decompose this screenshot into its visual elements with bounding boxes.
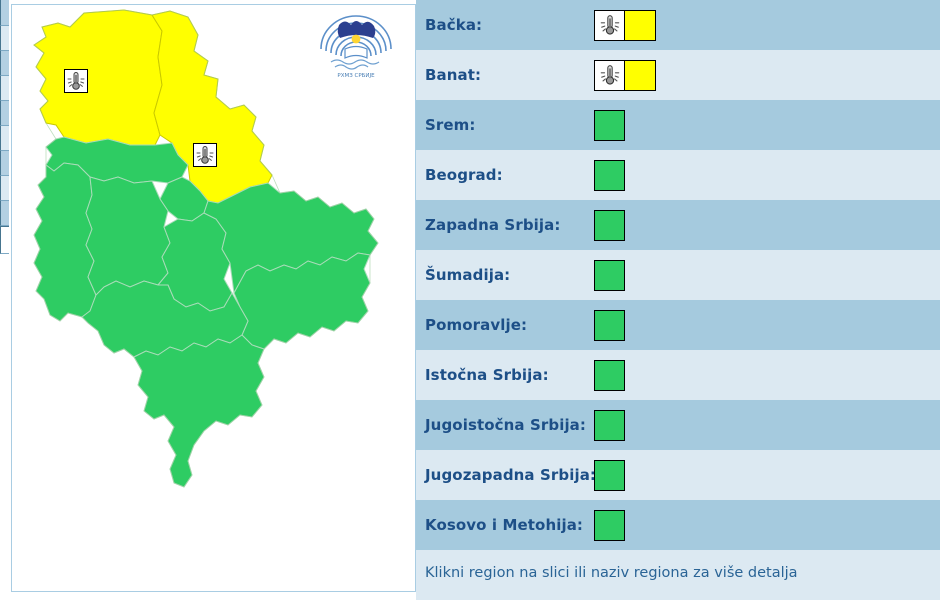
region-symbols-kosovo-i-metohija — [594, 510, 625, 541]
list-bottom-filler — [416, 596, 940, 600]
green-no-warning-swatch — [594, 360, 625, 391]
region-label-banat[interactable]: Banat: — [416, 66, 594, 84]
region-row-srem[interactable]: Srem: — [416, 100, 940, 150]
green-no-warning-swatch — [594, 260, 625, 291]
region-label-jugoistocna-srbija[interactable]: Jugoistočna Srbija: — [416, 416, 594, 434]
region-label-pomoravlje[interactable]: Pomoravlje: — [416, 316, 594, 334]
weather-warning-page: РХМЗ СРБИЈЕ — [0, 0, 940, 600]
region-symbols-jugoistocna-srbija — [594, 410, 625, 441]
region-shape-sumadija[interactable] — [86, 177, 170, 295]
edge-row — [0, 0, 9, 26]
region-row-zapadna-srbija[interactable]: Zapadna Srbija: — [416, 200, 940, 250]
edge-row — [0, 151, 9, 176]
region-label-backa[interactable]: Bačka: — [416, 16, 594, 34]
high-temperature-thermometer-icon — [594, 10, 625, 41]
region-symbols-backa — [594, 10, 656, 41]
region-shape-kosovo-i-metohija[interactable] — [134, 335, 264, 487]
region-label-zapadna-srbija[interactable]: Zapadna Srbija: — [416, 216, 594, 234]
region-symbols-srem — [594, 110, 625, 141]
map-hint-text: Klikni region na slici ili naziv regiona… — [416, 550, 940, 596]
edge-row — [0, 176, 9, 201]
green-no-warning-swatch — [594, 110, 625, 141]
region-row-jugozapadna-srbija[interactable]: Jugozapadna Srbija: — [416, 450, 940, 500]
region-row-beograd[interactable]: Beograd: — [416, 150, 940, 200]
region-label-istocna-srbija[interactable]: Istočna Srbija: — [416, 366, 594, 384]
rhmz-serbia-logo: РХМЗ СРБИЈЕ — [309, 9, 404, 81]
green-no-warning-swatch — [594, 160, 625, 191]
adjacent-table-edge-strip — [0, 0, 9, 600]
green-no-warning-swatch — [594, 460, 625, 491]
region-symbols-beograd — [594, 160, 625, 191]
high-temperature-thermometer-icon — [65, 70, 87, 92]
yellow-warning-swatch — [625, 60, 656, 91]
edge-row — [0, 126, 9, 151]
region-label-kosovo-i-metohija[interactable]: Kosovo i Metohija: — [416, 516, 594, 534]
region-row-pomoravlje[interactable]: Pomoravlje: — [416, 300, 940, 350]
map-marker-backa[interactable] — [64, 69, 88, 93]
edge-row — [0, 51, 9, 76]
region-label-sumadija[interactable]: Šumadija: — [416, 266, 594, 284]
edge-row — [0, 76, 9, 101]
region-shape-backa[interactable] — [34, 10, 162, 145]
logo-caption: РХМЗ СРБИЈЕ — [337, 73, 375, 79]
region-row-banat[interactable]: Banat: — [416, 50, 940, 100]
green-no-warning-swatch — [594, 510, 625, 541]
region-symbols-sumadija — [594, 260, 625, 291]
edge-row — [0, 201, 9, 226]
region-label-jugozapadna-srbija[interactable]: Jugozapadna Srbija: — [416, 466, 594, 484]
region-symbols-pomoravlje — [594, 310, 625, 341]
map-marker-banat[interactable] — [193, 143, 217, 167]
region-row-sumadija[interactable]: Šumadija: — [416, 250, 940, 300]
region-row-istocna-srbija[interactable]: Istočna Srbija: — [416, 350, 940, 400]
edge-row — [0, 26, 9, 51]
region-row-backa[interactable]: Bačka: — [416, 0, 940, 50]
region-row-kosovo-i-metohija[interactable]: Kosovo i Metohija: — [416, 500, 940, 550]
green-no-warning-swatch — [594, 210, 625, 241]
high-temperature-thermometer-icon — [194, 144, 216, 166]
region-symbols-jugozapadna-srbija — [594, 460, 625, 491]
region-warning-list: Bačka: — [416, 0, 940, 600]
green-no-warning-swatch — [594, 410, 625, 441]
high-temperature-thermometer-icon — [594, 60, 625, 91]
edge-row — [0, 226, 9, 254]
region-symbols-banat — [594, 60, 656, 91]
edge-row — [0, 101, 9, 126]
warning-map-panel[interactable]: РХМЗ СРБИЈЕ — [11, 4, 416, 592]
region-label-srem[interactable]: Srem: — [416, 116, 594, 134]
region-row-jugoistocna-srbija[interactable]: Jugoistočna Srbija: — [416, 400, 940, 450]
region-label-beograd[interactable]: Beograd: — [416, 166, 594, 184]
yellow-warning-swatch — [625, 10, 656, 41]
region-symbols-zapadna-srbija — [594, 210, 625, 241]
region-symbols-istocna-srbija — [594, 360, 625, 391]
green-no-warning-swatch — [594, 310, 625, 341]
